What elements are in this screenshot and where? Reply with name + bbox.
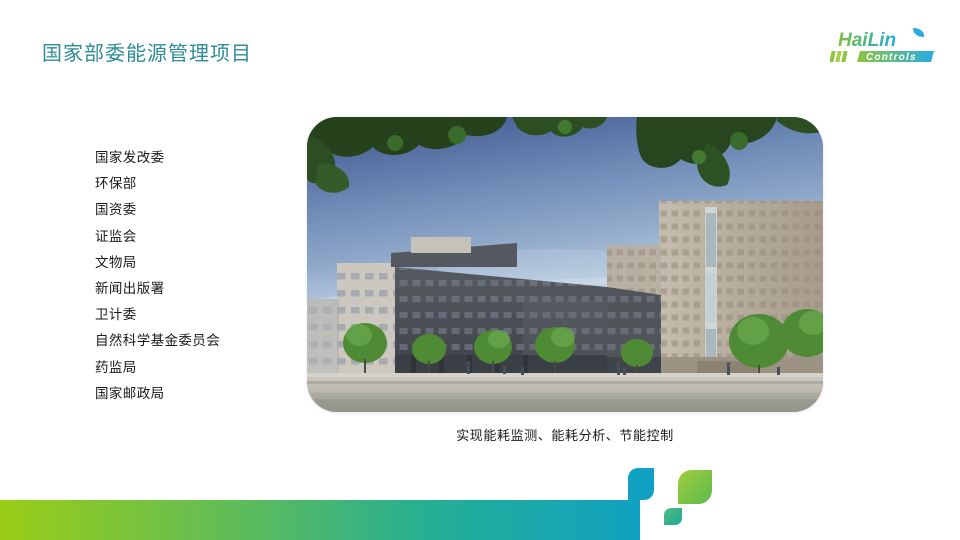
list-item: 新闻出版署 — [95, 276, 295, 302]
logo-bars — [830, 51, 848, 62]
logo-wordmark: HaiLin — [838, 30, 896, 51]
agency-list: 国家发改委 环保部 国资委 证监会 文物局 新闻出版署 卫计委 自然科学基金委员… — [95, 145, 295, 407]
page-title: 国家部委能源管理项目 — [42, 40, 252, 68]
list-item: 证监会 — [95, 224, 295, 250]
list-item: 自然科学基金委员会 — [95, 328, 295, 354]
list-item: 药监局 — [95, 355, 295, 381]
list-item: 国资委 — [95, 197, 295, 223]
photo-building-far-left — [307, 299, 339, 373]
list-item: 文物局 — [95, 250, 295, 276]
leaf-accent-large — [678, 470, 712, 504]
leaf-icon — [913, 28, 924, 37]
leaf-accent-small — [664, 508, 682, 525]
list-item: 卫计委 — [95, 302, 295, 328]
footer-decoration — [0, 460, 960, 540]
logo-subtitle: Controls — [866, 52, 917, 63]
list-item: 环保部 — [95, 171, 295, 197]
list-item: 国家邮政局 — [95, 381, 295, 407]
hailin-controls-logo: HaiLin Controls — [830, 26, 942, 68]
presentation-slide: 国家部委能源管理项目 HaiLin — [0, 0, 960, 540]
list-item: 国家发改委 — [95, 145, 295, 171]
footer-gradient-bar — [0, 468, 654, 540]
project-photo — [307, 117, 823, 412]
photo-caption: 实现能耗监测、能耗分析、节能控制 — [307, 425, 823, 444]
